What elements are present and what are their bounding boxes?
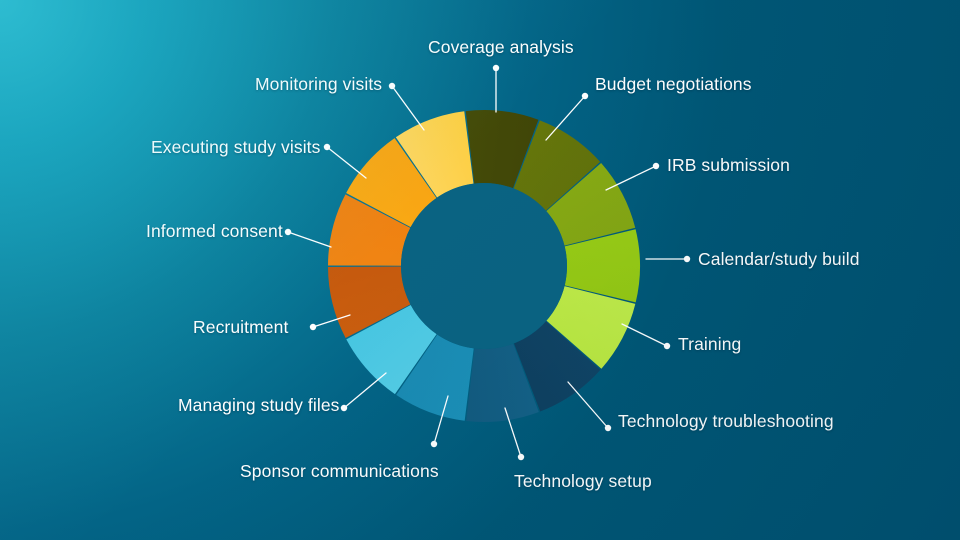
callout-label[interactable]: IRB submission [667, 156, 790, 175]
leader-dot-icon [285, 229, 291, 235]
callout-label[interactable]: Training [678, 335, 741, 354]
leader-dot-icon [684, 256, 690, 262]
callout-label[interactable]: Managing study files [178, 396, 340, 415]
callout-label[interactable]: Technology troubleshooting [618, 412, 834, 431]
leader-line [344, 373, 386, 408]
leader-line [622, 324, 667, 346]
leader-dot-icon [653, 163, 659, 169]
leader-line [288, 232, 331, 247]
callout-label[interactable]: Sponsor communications [240, 462, 439, 481]
leader-dot-icon [605, 425, 611, 431]
leader-dot-icon [310, 324, 316, 330]
leader-line [568, 382, 608, 428]
leader-line [327, 147, 366, 178]
leader-dot-icon [341, 405, 347, 411]
donut-chart: Coverage analysisBudget negotiationsIRB … [0, 0, 960, 540]
leader-dot-icon [493, 65, 499, 71]
leader-dot-icon [324, 144, 330, 150]
slide-canvas: Coverage analysisBudget negotiationsIRB … [0, 0, 960, 540]
callout-label[interactable]: Budget negotiations [595, 75, 752, 94]
leader-dot-icon [664, 343, 670, 349]
leader-line [606, 166, 656, 190]
callout-label[interactable]: Coverage analysis [428, 38, 574, 57]
leader-line [392, 86, 424, 130]
callout-label[interactable]: Monitoring visits [255, 75, 382, 94]
callout-label[interactable]: Informed consent [146, 222, 283, 241]
callout-label[interactable]: Recruitment [193, 318, 288, 337]
leader-dot-icon [518, 454, 524, 460]
leader-dot-icon [431, 441, 437, 447]
donut-center-hole [401, 183, 567, 349]
callout-label[interactable]: Executing study visits [151, 138, 321, 157]
leader-dot-icon [389, 83, 395, 89]
callout-label[interactable]: Calendar/study build [698, 250, 860, 269]
callout-label[interactable]: Technology setup [514, 472, 652, 491]
leader-dot-icon [582, 93, 588, 99]
